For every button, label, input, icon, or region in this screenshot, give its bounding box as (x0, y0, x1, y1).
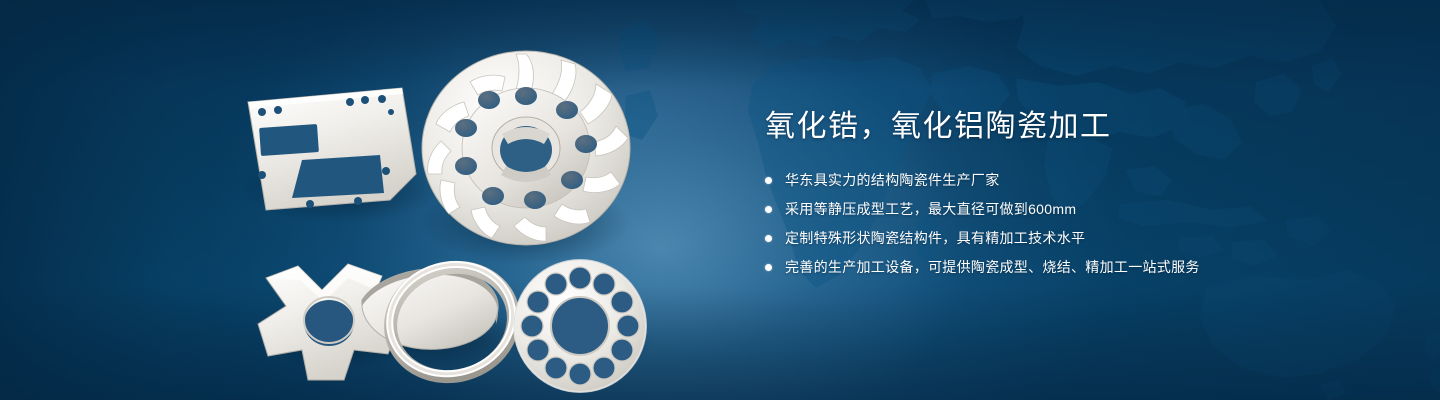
bullet-dot-icon (765, 264, 772, 271)
banner-copy: 氧化锆，氧化铝陶瓷加工 华东具实力的结构陶瓷件生产厂家 采用等静压成型工艺，最大… (765, 108, 1385, 286)
bullet-dot-icon (765, 235, 772, 242)
list-item: 定制特殊形状陶瓷结构件，具有精加工技术水平 (765, 228, 1385, 248)
bullet-dot-icon (765, 206, 772, 213)
feature-list: 华东具实力的结构陶瓷件生产厂家 采用等静压成型工艺，最大直径可做到600mm 定… (765, 170, 1385, 277)
list-item: 采用等静压成型工艺，最大直径可做到600mm (765, 199, 1385, 219)
feature-text: 完善的生产加工设备，可提供陶瓷成型、烧结、精加工一站式服务 (785, 257, 1200, 277)
feature-text: 采用等静压成型工艺，最大直径可做到600mm (785, 199, 1076, 219)
page-title: 氧化锆，氧化铝陶瓷加工 (765, 108, 1385, 146)
ceramic-impeller-part (422, 51, 630, 245)
ceramic-products-image (230, 38, 700, 378)
ceramic-plate-part (248, 88, 416, 210)
bullet-dot-icon (765, 177, 772, 184)
ceramic-perforated-disc-part (514, 260, 646, 392)
feature-text: 华东具实力的结构陶瓷件生产厂家 (785, 170, 1000, 190)
list-item: 华东具实力的结构陶瓷件生产厂家 (765, 170, 1385, 190)
promo-banner: 氧化锆，氧化铝陶瓷加工 华东具实力的结构陶瓷件生产厂家 采用等静压成型工艺，最大… (0, 0, 1440, 400)
feature-text: 定制特殊形状陶瓷结构件，具有精加工技术水平 (785, 228, 1085, 248)
list-item: 完善的生产加工设备，可提供陶瓷成型、烧结、精加工一站式服务 (765, 257, 1385, 277)
